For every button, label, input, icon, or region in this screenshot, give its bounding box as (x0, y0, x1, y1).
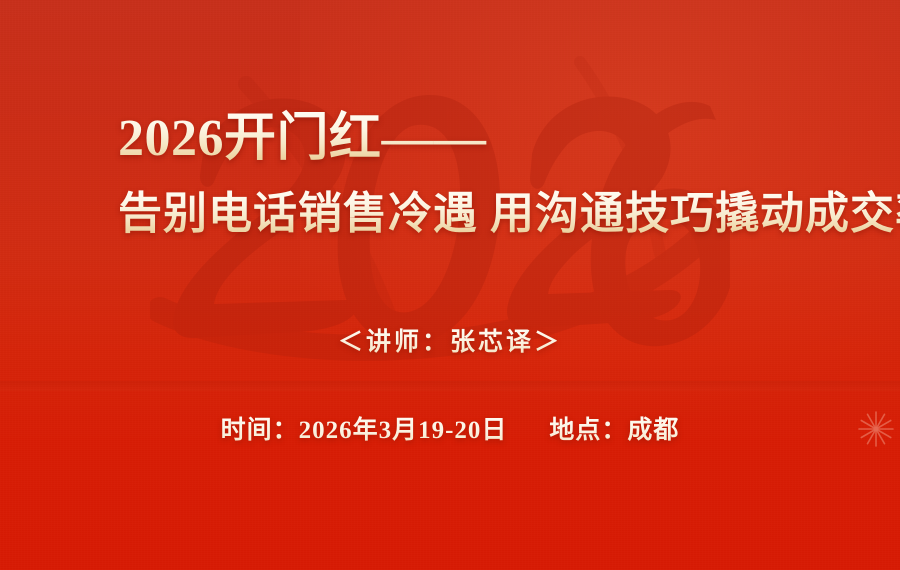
poster-title-line-2: 告别电话销售冷遇 用沟通技巧撬动成交率 (118, 186, 900, 242)
poster-content: 2026开门红—— 告别电话销售冷遇 用沟通技巧撬动成交率 ＜讲师：张芯译＞ 时… (0, 0, 900, 570)
poster-time-label: 时间：2026年3月19-20日 (221, 417, 508, 444)
poster-place-label: 地点：成都 (549, 417, 679, 444)
poster-meta-row: 时间：2026年3月19-20日地点：成都 (0, 412, 900, 450)
poster-speaker: ＜讲师：张芯译＞ (0, 325, 900, 361)
poster-title-line-1: 2026开门红—— (118, 108, 487, 170)
poster-canvas: 2026开门红—— 告别电话销售冷遇 用沟通技巧撬动成交率 ＜讲师：张芯译＞ 时… (0, 0, 900, 570)
